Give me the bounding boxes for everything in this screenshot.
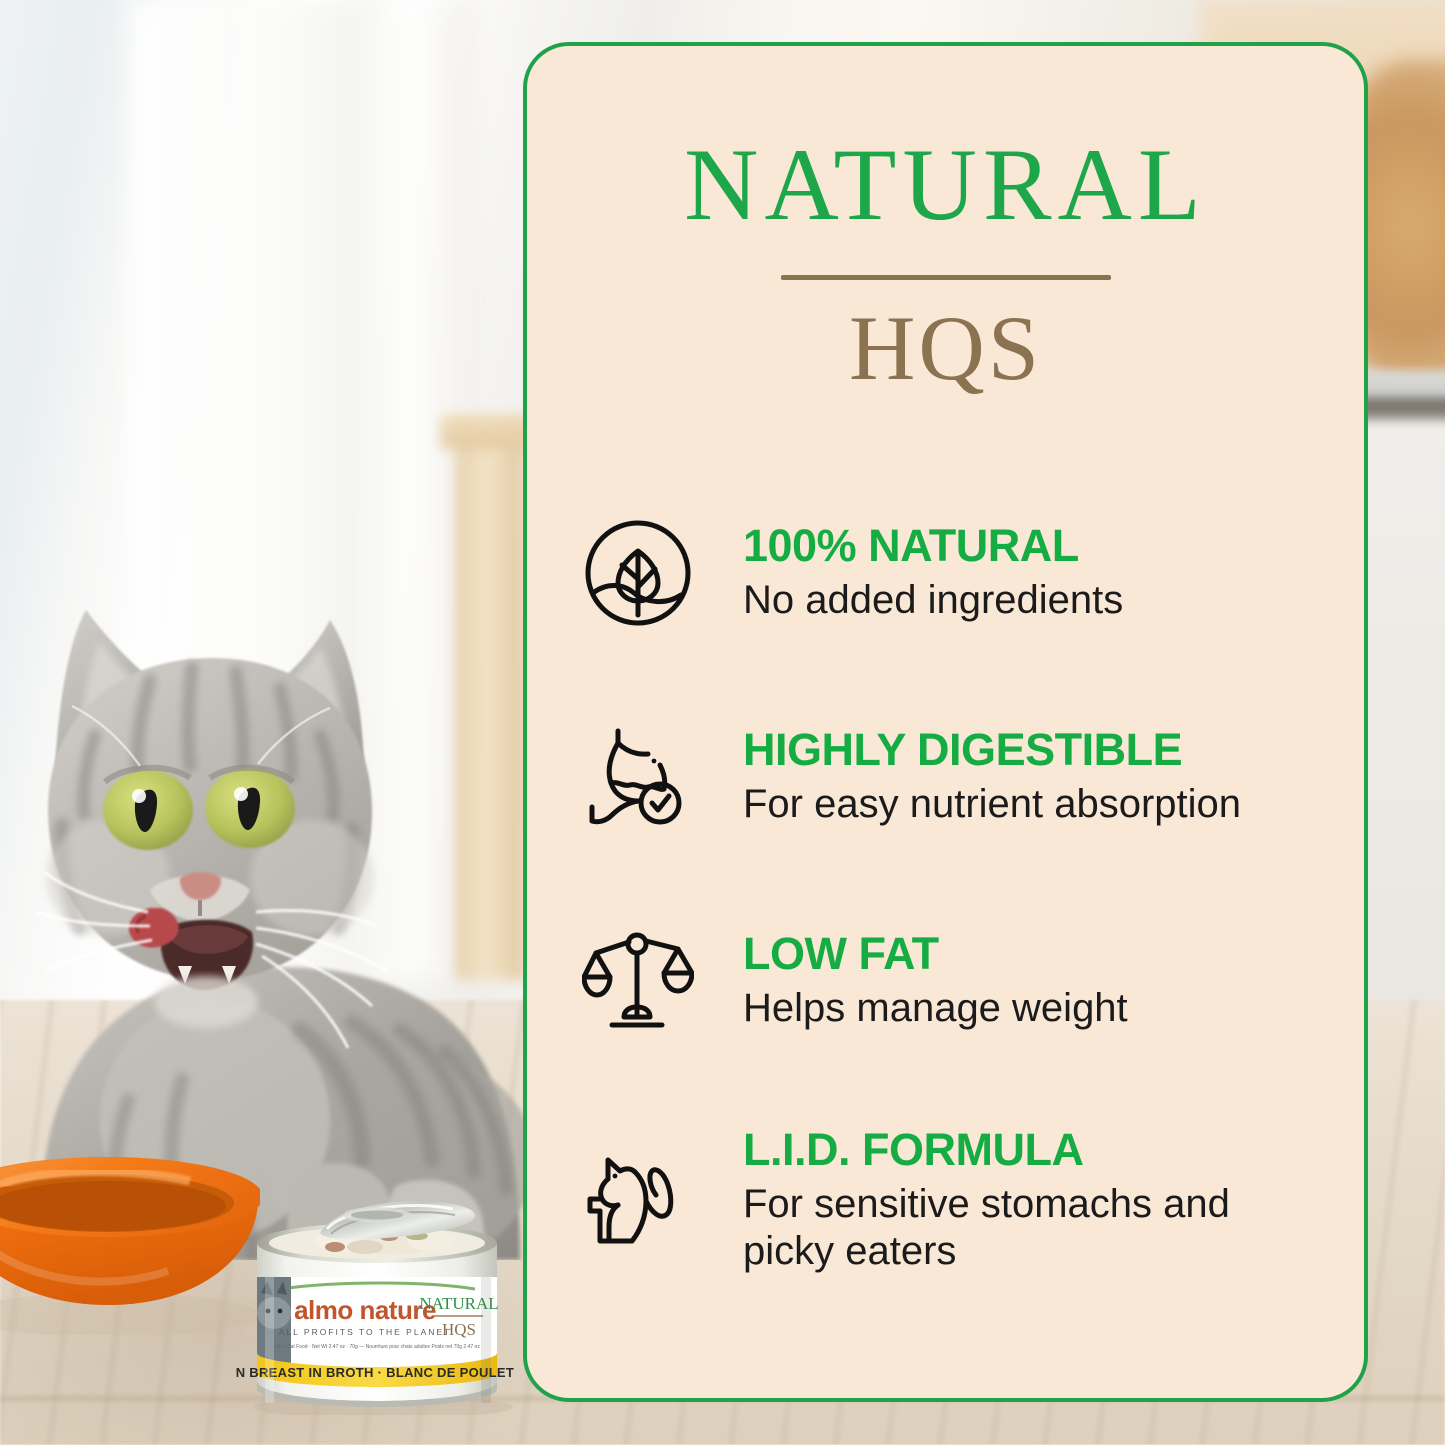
- feature-desc: For easy nutrient absorption: [743, 781, 1312, 828]
- feature-row-lid: L.I.D. FORMULA For sensitive stomachs an…: [579, 1126, 1312, 1276]
- feature-desc: For sensitive stomachs and picky eaters: [743, 1181, 1312, 1275]
- svg-text:ALL PROFITS TO THE PLANET: ALL PROFITS TO THE PLANET: [279, 1327, 452, 1337]
- feature-row-digestible: HIGHLY DIGESTIBLE For easy nutrient abso…: [579, 718, 1312, 836]
- feature-title: L.I.D. FORMULA: [743, 1126, 1312, 1173]
- feature-row-lowfat: LOW FAT Helps manage weight: [579, 922, 1312, 1040]
- svg-text:Adult Cat Food · Net Wt 2.47 o: Adult Cat Food · Net Wt 2.47 oz · 70g — …: [274, 1344, 480, 1350]
- svg-text:HQS: HQS: [442, 1320, 476, 1339]
- almo-nature-can: almo nature ALL PROFITS TO THE PLANET NA…: [235, 1185, 515, 1415]
- svg-text:almo nature: almo nature: [294, 1295, 436, 1325]
- feature-title: LOW FAT: [743, 930, 1312, 977]
- feature-title: 100% NATURAL: [743, 522, 1312, 569]
- feature-row-natural: 100% NATURAL No added ingredients: [579, 514, 1312, 632]
- feature-desc: No added ingredients: [743, 577, 1312, 624]
- leaf-in-circle-icon: [579, 514, 697, 632]
- feature-text-natural: 100% NATURAL No added ingredients: [743, 522, 1312, 624]
- sitting-cat-icon: [579, 1142, 697, 1260]
- info-panel: NATURAL HQS: [523, 42, 1368, 1402]
- balance-scale-icon: [579, 922, 697, 1040]
- feature-text-digestible: HIGHLY DIGESTIBLE For easy nutrient abso…: [743, 726, 1312, 828]
- stomach-check-icon: [579, 718, 697, 836]
- product-feature-image: almo nature ALL PROFITS TO THE PLANET NA…: [0, 0, 1445, 1445]
- feature-text-lowfat: LOW FAT Helps manage weight: [743, 930, 1312, 1032]
- feature-text-lid: L.I.D. FORMULA For sensitive stomachs an…: [743, 1126, 1312, 1276]
- feature-list: 100% NATURAL No added ingredients: [579, 514, 1312, 1276]
- background-wood-frame-top: [440, 415, 535, 449]
- orange-pet-bowl: [0, 1155, 260, 1335]
- feature-desc: Helps manage weight: [743, 985, 1312, 1032]
- page-subtitle: HQS: [579, 302, 1312, 394]
- feature-title: HIGHLY DIGESTIBLE: [743, 726, 1312, 773]
- svg-text:KEN BREAST IN BROTH · BLANC DE: KEN BREAST IN BROTH · BLANC DE POULET AU: [235, 1365, 515, 1380]
- page-title: NATURAL: [579, 134, 1312, 237]
- title-divider: [781, 275, 1111, 280]
